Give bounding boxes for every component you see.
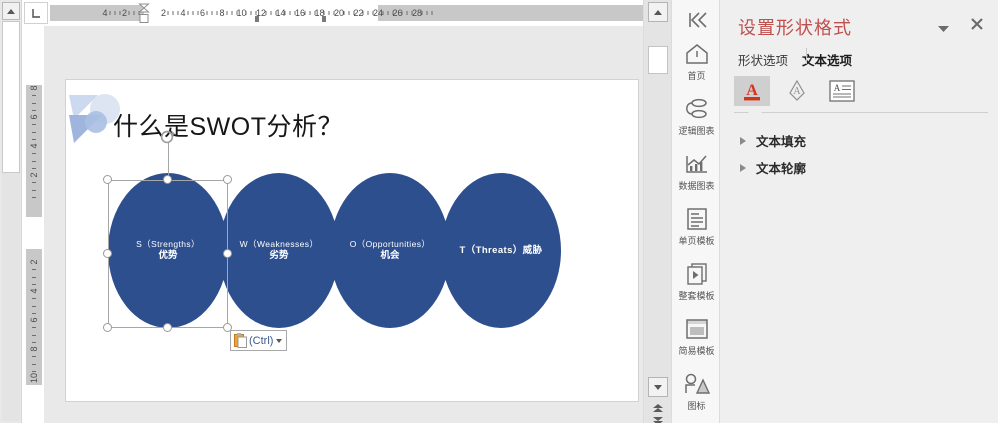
resize-handle-e[interactable]	[223, 249, 232, 258]
chevron-down-icon	[937, 25, 950, 33]
rail-item-single-page-template[interactable]: 单页模板	[672, 205, 720, 247]
ruler-tick	[32, 168, 36, 169]
ruler-tick	[290, 11, 291, 15]
ruler-tick	[32, 269, 36, 270]
ruler-tick	[32, 342, 36, 343]
plugin-icon-rail[interactable]: 首页逻辑图表数据图表单页模板整套模板简易模板图标	[671, 0, 720, 423]
hourglass-indent-icon	[139, 3, 150, 24]
ruler-tick	[231, 11, 232, 15]
svg-text:A: A	[793, 86, 801, 97]
rail-item-label: 首页	[687, 69, 705, 82]
arrow-up-icon	[7, 9, 15, 14]
ruler-number: 2	[29, 172, 39, 177]
paste-options-label: (Ctrl)	[249, 335, 273, 347]
ruler-tick	[426, 11, 427, 15]
ruler-tick	[212, 11, 213, 15]
logic-chart-icon	[683, 95, 711, 123]
swot-circle-line1: O（Opportunities）	[350, 239, 431, 250]
pane-divider	[734, 112, 988, 113]
scroll-up-button[interactable]	[648, 2, 668, 22]
double-arrow-down-icon	[652, 416, 664, 423]
page-title[interactable]: 什么是SWOT分析？	[113, 107, 343, 143]
indent-marker[interactable]	[139, 3, 150, 24]
horizontal-ruler[interactable]: 42246810121416182022242628	[50, 2, 643, 24]
scroll-thumb[interactable]	[648, 46, 668, 74]
ruler-tick	[32, 103, 36, 104]
ruler-tick	[32, 197, 36, 198]
section-label: 文本填充	[756, 131, 806, 150]
ruler-number: 2	[29, 259, 39, 264]
ruler-tick	[32, 284, 36, 285]
svg-text:A: A	[746, 82, 758, 99]
ruler-tick	[32, 190, 36, 191]
rail-item-label: 单页模板	[678, 234, 714, 247]
ruler-tick	[129, 11, 130, 15]
shape-selection-box[interactable]	[108, 180, 228, 328]
rail-item-icon-library[interactable]: 图标	[672, 370, 720, 412]
arrow-down-icon	[654, 385, 662, 390]
single-page-template-icon	[686, 205, 708, 233]
section-text-fill[interactable]: 文本填充	[740, 131, 806, 150]
resize-handle-s[interactable]	[163, 323, 172, 332]
ruler-tick	[32, 161, 36, 162]
ruler-tick	[192, 11, 193, 15]
ruler-tick	[348, 11, 349, 15]
tab-stop-marker[interactable]	[322, 16, 326, 22]
ruler-tick	[285, 11, 286, 15]
ruler-tick	[32, 298, 36, 299]
letter-a-fill-icon: A	[740, 79, 764, 103]
tab-text-options[interactable]: 文本选项	[802, 50, 852, 72]
ruler-tick	[304, 11, 305, 15]
ruler-tick	[32, 95, 36, 96]
ruler-number: 8	[29, 346, 39, 351]
ruler-number: 4	[102, 6, 107, 20]
ruler-tick	[178, 11, 179, 15]
vertical-ruler[interactable]: 8642246810	[26, 85, 42, 385]
ruler-number: 4	[29, 288, 39, 293]
clipboard-icon	[234, 333, 247, 348]
ruler-tick	[207, 11, 208, 15]
ruler-tick	[343, 11, 344, 15]
next-slide-button[interactable]	[652, 412, 664, 423]
simple-template-icon	[685, 315, 709, 343]
ruler-tick	[402, 11, 403, 15]
powerpoint-editor-window: 42246810121416182022242628 8642246810	[0, 0, 998, 423]
rail-item-label: 逻辑图表	[678, 124, 714, 137]
ruler-tick	[309, 11, 310, 15]
ruler-tick	[32, 356, 36, 357]
ruler-tick	[32, 371, 36, 372]
ruler-tick	[32, 139, 36, 140]
swot-circle-line2: 机会	[380, 250, 399, 262]
ruler-tick	[387, 11, 388, 15]
ruler-tick	[32, 277, 36, 278]
home-icon	[684, 40, 710, 68]
collapse-left-icon	[684, 11, 708, 29]
left-tab-stop-icon	[31, 8, 42, 19]
swot-circle-line1: T（Threats）威胁	[460, 245, 543, 257]
ruler-tick	[431, 11, 432, 15]
chevron-right-icon	[740, 137, 746, 145]
swot-circle-threats[interactable]: T（Threats）威胁	[441, 173, 561, 328]
ruler-tick	[173, 11, 174, 15]
slide-pane-scroll-up-button[interactable]	[2, 2, 20, 20]
selected-icon-pointer	[748, 106, 762, 113]
ruler-tick	[217, 11, 218, 15]
ruler-number: 8	[29, 85, 39, 90]
text-format-icon-row[interactable]: A A A	[734, 76, 860, 106]
ruler-tick	[32, 335, 36, 336]
tab-divider	[806, 48, 807, 64]
text-box-icon[interactable]: A	[824, 76, 860, 106]
rail-item-home[interactable]: 首页	[672, 40, 720, 82]
letter-a-outline-icon: A	[785, 79, 809, 103]
icon-library-icon	[684, 370, 710, 398]
ruler-tick	[226, 11, 227, 15]
ruler-number: 8	[219, 6, 224, 20]
ruler-tick	[246, 11, 247, 15]
ruler-tick	[32, 110, 36, 111]
ruler-tick	[32, 306, 36, 307]
pane-tab-strip[interactable]: 形状选项 文本选项	[738, 50, 852, 72]
swot-circle-weaknesses[interactable]: W（Weaknesses） 劣势	[219, 173, 339, 328]
section-text-outline[interactable]: 文本轮廓	[740, 158, 806, 177]
ruler-number: 6	[200, 6, 205, 20]
tab-stop-marker[interactable]	[255, 16, 259, 22]
slide-pane-scroll-track[interactable]	[2, 173, 20, 421]
vruler-content-area	[26, 217, 42, 249]
letter-a-textbox-icon: A	[829, 80, 855, 102]
data-chart-icon	[684, 150, 710, 178]
slide-thumbnail-scrollbar[interactable]	[0, 0, 22, 423]
pane-options-dropdown[interactable]	[937, 20, 950, 38]
ruler-number: 10	[29, 373, 39, 383]
full-set-template-icon	[685, 260, 709, 288]
ruler-tick	[32, 132, 36, 133]
chevron-right-icon	[740, 164, 746, 172]
ruler-tick	[109, 11, 110, 15]
rotate-icon	[159, 128, 177, 146]
rail-item-full-set-template[interactable]: 整套模板	[672, 260, 720, 302]
scroll-down-button[interactable]	[648, 377, 668, 397]
ruler-tick	[114, 11, 115, 15]
swot-circle-line2: 劣势	[269, 250, 288, 262]
ruler-tick	[32, 153, 36, 154]
ruler-number: 4	[29, 143, 39, 148]
resize-handle-nw[interactable]	[103, 175, 112, 184]
tab-shape-options[interactable]: 形状选项	[738, 50, 788, 72]
ruler-tick	[329, 11, 330, 15]
ruler-tick	[32, 124, 36, 125]
svg-text:A: A	[834, 83, 841, 93]
swot-circle-line1: W（Weaknesses）	[240, 239, 319, 250]
ruler-number: 4	[180, 6, 185, 20]
close-icon	[970, 17, 984, 31]
resize-handle-sw[interactable]	[103, 323, 112, 332]
rail-item-label: 图标	[687, 399, 705, 412]
ruler-tick	[168, 11, 169, 15]
rail-item-label: 数据图表	[678, 179, 714, 192]
ruler-tick	[270, 11, 271, 15]
close-pane-button[interactable]	[970, 17, 984, 36]
rotation-handle[interactable]	[159, 128, 177, 146]
ruler-tick	[382, 11, 383, 15]
text-fill-icon[interactable]: A	[734, 76, 770, 106]
section-label: 文本轮廓	[756, 158, 806, 177]
ruler-tick	[32, 182, 36, 183]
ruler-number: 2	[161, 6, 166, 20]
ruler-margin-left	[50, 5, 144, 21]
slide-surface[interactable]: 什么是SWOT分析？ S（Strengths） 优势 W（Weaknesses）…	[65, 79, 639, 402]
ruler-tick	[32, 327, 36, 328]
ruler-tick	[119, 11, 120, 15]
format-shape-pane: 设置形状格式 形状选项 文本选项 A	[720, 0, 998, 423]
ruler-tick	[368, 11, 369, 15]
swot-circle-opportunities[interactable]: O（Opportunities） 机会	[330, 173, 450, 328]
ruler-tick	[32, 364, 36, 365]
arrow-up-icon	[654, 10, 662, 15]
rail-item-label: 整套模板	[678, 289, 714, 302]
paste-options-button[interactable]: (Ctrl)	[230, 330, 287, 351]
pane-title: 设置形状格式	[738, 14, 852, 40]
ruler-number: 6	[29, 114, 39, 119]
ruler-tick	[197, 11, 198, 15]
ruler-tick	[134, 11, 135, 15]
rail-item-label: 简易模板	[678, 344, 714, 357]
rail-item-data-chart[interactable]: 数据图表	[672, 150, 720, 192]
rail-item-logic-chart[interactable]: 逻辑图表	[672, 95, 720, 137]
slide-canvas-area[interactable]: 什么是SWOT分析？ S（Strengths） 优势 W（Weaknesses）…	[44, 26, 643, 423]
ruler-tick	[265, 11, 266, 15]
ruler-tick	[421, 11, 422, 15]
text-effects-icon[interactable]: A	[779, 76, 815, 106]
resize-handle-ne[interactable]	[223, 175, 232, 184]
ruler-tick	[407, 11, 408, 15]
ruler-number: 2	[122, 6, 127, 20]
ruler-tick	[324, 11, 325, 15]
ruler-tick	[251, 11, 252, 15]
ruler-tick	[32, 313, 36, 314]
tab-stop-selector[interactable]	[24, 2, 48, 24]
resize-handle-n[interactable]	[163, 175, 172, 184]
ruler-tick	[363, 11, 364, 15]
rail-item-simple-template[interactable]: 简易模板	[672, 315, 720, 357]
ruler-number: 6	[29, 317, 39, 322]
collapse-panel-button[interactable]	[672, 0, 719, 40]
chevron-down-icon	[276, 339, 282, 343]
slide-pane-scroll-thumb[interactable]	[2, 21, 20, 173]
resize-handle-w[interactable]	[103, 249, 112, 258]
canvas-vertical-scrollbar[interactable]	[643, 0, 671, 423]
ruler-tick	[187, 11, 188, 15]
